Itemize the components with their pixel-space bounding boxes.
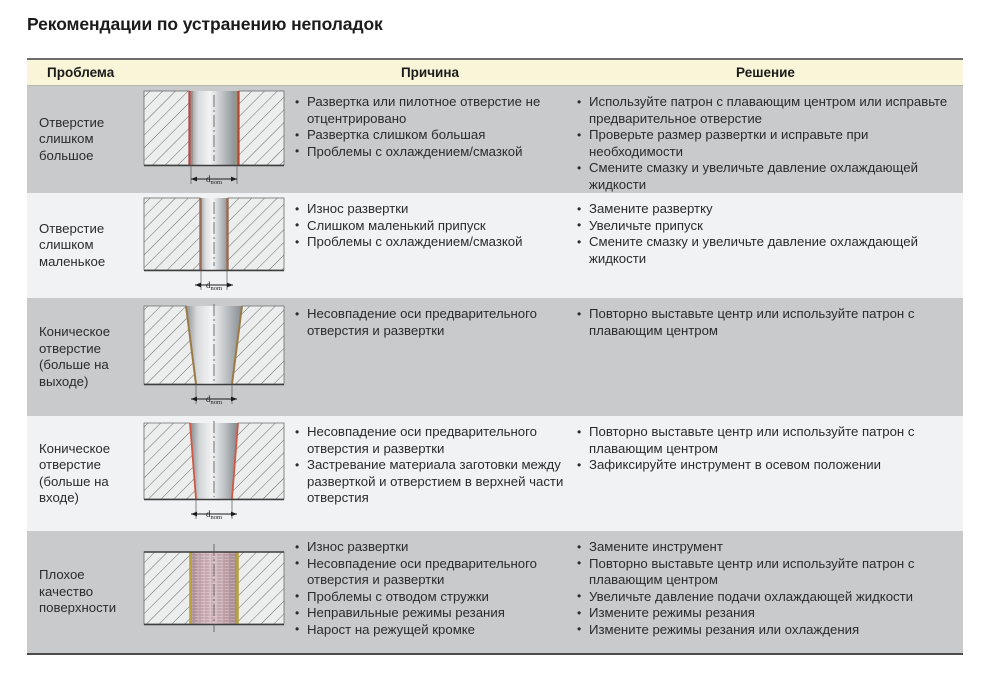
page-title: Рекомендации по устранению неполадок xyxy=(27,14,383,35)
problem-label: Отверстие слишком маленькое xyxy=(27,221,139,271)
column-header-cause: Причина xyxy=(292,65,568,80)
problem-label-line: качество xyxy=(39,584,139,601)
solution-list: Повторно выставьте центр или используйте… xyxy=(576,424,957,474)
list-item: Зафиксируйте инструмент в осевом положен… xyxy=(576,457,957,474)
list-item: Используйте патрон с плавающим центром и… xyxy=(576,94,957,127)
problem-label-line: (больше на xyxy=(39,357,139,374)
table-row: Коническое отверстие (больше на выходе) xyxy=(27,298,963,416)
list-item: Смените смазку и увеличьте давление охла… xyxy=(576,160,957,193)
list-item: Застревание материала заготовки между ра… xyxy=(294,457,564,507)
problem-cell: Плохое качество поверхности xyxy=(27,531,292,653)
list-item: Повторно выставьте центр или используйте… xyxy=(576,424,957,457)
dimension-label: dnom xyxy=(206,394,222,406)
list-item: Смените смазку и увеличьте давление охла… xyxy=(576,234,957,267)
list-item: Неправильные режимы резания xyxy=(294,605,564,622)
problem-label-line: Коническое xyxy=(39,441,139,458)
problem-label-line: Отверстие xyxy=(39,115,139,132)
problem-label-line: отверстие xyxy=(39,341,139,358)
problem-label-line: слишком xyxy=(39,237,139,254)
dimension-label: dnom xyxy=(206,280,222,292)
problem-label-line: маленькое xyxy=(39,254,139,271)
column-header-problem: Проблема xyxy=(27,65,292,80)
problem-cell: Коническое отверстие (больше на выходе) xyxy=(27,298,292,416)
hole-too-small-diagram: dnom xyxy=(139,196,289,296)
problem-cell: Отверстие слишком большое xyxy=(27,86,292,193)
list-item: Проверьте размер развертки и исправьте п… xyxy=(576,127,957,160)
list-item: Увеличьте припуск xyxy=(576,218,957,235)
problem-label-line: поверхности xyxy=(39,600,139,617)
cause-list: Развертка или пилотное отверстие не отце… xyxy=(294,94,564,160)
cause-cell: Несовпадение оси предварительного отверс… xyxy=(292,298,568,416)
conical-hole-larger-at-entry-diagram: dnom xyxy=(139,419,289,529)
cause-cell: Развертка или пилотное отверстие не отце… xyxy=(292,86,568,193)
problem-label-line: отверстие xyxy=(39,457,139,474)
table-row: Коническое отверстие (больше на входе) xyxy=(27,416,963,531)
list-item: Развертка или пилотное отверстие не отце… xyxy=(294,94,564,127)
cause-list: Несовпадение оси предварительного отверс… xyxy=(294,306,564,339)
problem-label: Отверстие слишком большое xyxy=(27,115,139,165)
table-header-row: Проблема Причина Решение xyxy=(27,60,963,86)
list-item: Увеличьте давление подачи охлаждающей жи… xyxy=(576,589,957,606)
list-item: Замените развертку xyxy=(576,201,957,218)
solution-cell: Замените развертку Увеличьте припуск Сме… xyxy=(568,193,963,298)
diagram-container xyxy=(139,542,292,642)
list-item: Повторно выставьте центр или используйте… xyxy=(576,306,957,339)
hole-too-large-diagram: dnom xyxy=(139,89,289,191)
problem-label-line: Коническое xyxy=(39,324,139,341)
troubleshooting-page: Рекомендации по устранению неполадок Про… xyxy=(0,0,990,697)
conical-hole-larger-at-exit-diagram: dnom xyxy=(139,302,289,412)
diagram-container: dnom xyxy=(139,196,292,296)
problem-cell: Коническое отверстие (больше на входе) xyxy=(27,416,292,531)
list-item: Проблемы с охлаждением/смазкой xyxy=(294,144,564,161)
solution-list: Замените развертку Увеличьте припуск Сме… xyxy=(576,201,957,267)
list-item: Износ развертки xyxy=(294,539,564,556)
diagram-container: dnom xyxy=(139,89,292,191)
table-row: Отверстие слишком маленькое xyxy=(27,193,963,298)
problem-label: Плохое качество поверхности xyxy=(27,567,139,617)
solution-cell: Замените инструмент Повторно выставьте ц… xyxy=(568,531,963,653)
problem-label-line: большое xyxy=(39,148,139,165)
cause-cell: Износ развертки Несовпадение оси предвар… xyxy=(292,531,568,653)
list-item: Проблемы с отводом стружки xyxy=(294,589,564,606)
list-item: Развертка слишком большая xyxy=(294,127,564,144)
problem-label-line: Отверстие xyxy=(39,221,139,238)
dimension-label: dnom xyxy=(206,174,222,186)
cause-cell: Несовпадение оси предварительного отверс… xyxy=(292,416,568,531)
list-item: Износ развертки xyxy=(294,201,523,218)
list-item: Проблемы с охлаждением/смазкой xyxy=(294,234,523,251)
problem-label-line: слишком xyxy=(39,131,139,148)
problem-label-line: (больше на xyxy=(39,474,139,491)
problem-label-line: Плохое xyxy=(39,567,139,584)
list-item: Нарост на режущей кромке xyxy=(294,622,564,639)
problem-label-line: выходе) xyxy=(39,374,139,391)
cause-list: Износ развертки Несовпадение оси предвар… xyxy=(294,539,564,639)
table-row: Плохое качество поверхности xyxy=(27,531,963,653)
problem-label: Коническое отверстие (больше на входе) xyxy=(27,441,139,507)
list-item: Слишком маленький припуск xyxy=(294,218,523,235)
list-item: Несовпадение оси предварительного отверс… xyxy=(294,306,564,339)
dimension-label: dnom xyxy=(206,509,222,521)
list-item: Измените режимы резания или охлаждения xyxy=(576,622,957,639)
diagram-container: dnom xyxy=(139,419,292,529)
column-header-solution: Решение xyxy=(568,65,963,80)
cause-cell: Износ развертки Слишком маленький припус… xyxy=(292,193,568,298)
list-item: Замените инструмент xyxy=(576,539,957,556)
cause-list: Износ развертки Слишком маленький припус… xyxy=(294,201,523,251)
list-item: Несовпадение оси предварительного отверс… xyxy=(294,424,564,457)
table-row: Отверстие слишком большое xyxy=(27,86,963,193)
troubleshooting-table: Проблема Причина Решение Отверстие слишк… xyxy=(27,58,963,655)
problem-cell: Отверстие слишком маленькое xyxy=(27,193,292,298)
solution-cell: Повторно выставьте центр или используйте… xyxy=(568,416,963,531)
list-item: Повторно выставьте центр или используйте… xyxy=(576,556,957,589)
solution-list: Повторно выставьте центр или используйте… xyxy=(576,306,957,339)
diagram-container: dnom xyxy=(139,302,292,412)
solution-list: Используйте патрон с плавающим центром и… xyxy=(576,94,957,194)
poor-surface-finish-diagram xyxy=(139,542,289,642)
list-item: Несовпадение оси предварительного отверс… xyxy=(294,556,564,589)
solution-list: Замените инструмент Повторно выставьте ц… xyxy=(576,539,957,639)
cause-list: Несовпадение оси предварительного отверс… xyxy=(294,424,564,507)
list-item: Измените режимы резания xyxy=(576,605,957,622)
solution-cell: Используйте патрон с плавающим центром и… xyxy=(568,86,963,193)
problem-label: Коническое отверстие (больше на выходе) xyxy=(27,324,139,390)
problem-label-line: входе) xyxy=(39,490,139,507)
solution-cell: Повторно выставьте центр или используйте… xyxy=(568,298,963,416)
